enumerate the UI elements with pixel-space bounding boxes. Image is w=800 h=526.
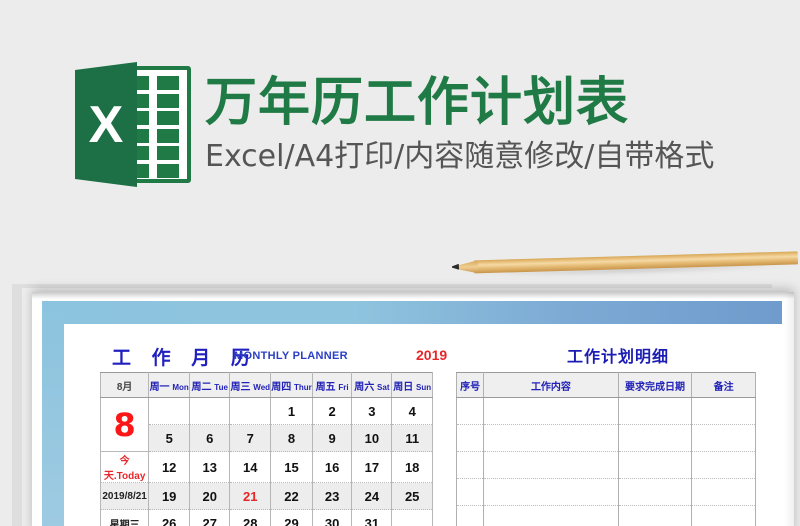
plan-cell-duedate[interactable] (618, 398, 692, 425)
calendar-day-cell[interactable]: 20 (190, 483, 230, 510)
calendar-month-label: 8月 (101, 373, 149, 398)
excel-x-panel: X (75, 62, 137, 187)
promo-banner: X 万年历工作计划表 Excel/A4打印/内容随意修改/自带格式 (0, 0, 800, 232)
calendar-day-cell-today[interactable]: 21 (230, 483, 271, 510)
table-row (457, 506, 756, 526)
calendar-day-cell[interactable]: 16 (312, 452, 352, 483)
calendar-week-row: 8 1 2 3 4 (101, 398, 433, 425)
plan-cell-remark[interactable] (692, 506, 756, 526)
plan-cell-remark[interactable] (692, 425, 756, 452)
calendar-day-cell[interactable]: 9 (312, 425, 352, 452)
calendar-day-cell[interactable]: 6 (190, 425, 230, 452)
plan-header-row: 序号 工作内容 要求完成日期 备注 (457, 373, 756, 398)
plan-cell-index[interactable] (457, 425, 484, 452)
plan-cell-remark[interactable] (692, 398, 756, 425)
calendar-day-cell[interactable]: 17 (352, 452, 392, 483)
page-subtitle: Excel/A4打印/内容随意修改/自带格式 (205, 131, 714, 175)
sheet-content: 工 作 月 历 MONTHLY PLANNER 2019 工作计划明细 8月 周… (64, 324, 794, 526)
calendar-day-cell[interactable]: 2 (312, 398, 352, 425)
calendar-day-cell[interactable]: 25 (392, 483, 433, 510)
calendar-day-cell[interactable]: 7 (230, 425, 271, 452)
calendar-day-cell[interactable]: 10 (352, 425, 392, 452)
calendar-day-cell[interactable]: 19 (149, 483, 190, 510)
page-title: 万年历工作计划表 (205, 60, 629, 135)
page-right-shading (784, 292, 794, 526)
work-plan-table[interactable]: 序号 工作内容 要求完成日期 备注 (456, 372, 756, 526)
calendar-day-cell[interactable]: 11 (392, 425, 433, 452)
plan-cell-duedate[interactable] (618, 425, 692, 452)
table-row (457, 452, 756, 479)
calendar-day-cell[interactable]: 26 (149, 510, 190, 526)
calendar-day-cell[interactable]: 14 (230, 452, 271, 483)
plan-title: 工作计划明细 (567, 343, 669, 367)
plan-cell-content[interactable] (484, 479, 618, 506)
calendar-week-row: 5 6 7 8 9 10 11 (101, 425, 433, 452)
plan-cell-remark[interactable] (692, 479, 756, 506)
calendar-header-row: 8月 周一 Mon 周二 Tue 周三 Wed 周四 Thur 周五 Fri 周… (101, 373, 433, 398)
calendar-month-number: 8 (101, 398, 149, 452)
calendar-day-cell[interactable]: 15 (271, 452, 313, 483)
spreadsheet-page: 工 作 月 历 MONTHLY PLANNER 2019 工作计划明细 8月 周… (32, 292, 794, 526)
plan-cell-remark[interactable] (692, 452, 756, 479)
calendar-weekday-mon: 周一 Mon (149, 373, 190, 398)
calendar-day-cell[interactable]: 12 (149, 452, 190, 483)
table-row (457, 479, 756, 506)
plan-cell-content[interactable] (484, 452, 618, 479)
calendar-weekday-wed: 周三 Wed (230, 373, 271, 398)
pencil-graphite-tip (452, 264, 459, 270)
calendar-year: 2019 (416, 347, 447, 363)
plan-cell-duedate[interactable] (618, 479, 692, 506)
calendar-day-cell[interactable]: 18 (392, 452, 433, 483)
calendar-day-cell[interactable]: 29 (271, 510, 313, 526)
today-weekday: 星期三 (101, 510, 149, 526)
calendar-day-cell[interactable]: 1 (271, 398, 313, 425)
calendar-day-cell[interactable]: 31 (352, 510, 392, 526)
calendar-weekday-sat: 周六 Sat (352, 373, 392, 398)
letter-x-glyph: X (75, 62, 137, 187)
table-row (457, 425, 756, 452)
screenshot-root: X 万年历工作计划表 Excel/A4打印/内容随意修改/自带格式 工 作 月 … (0, 0, 800, 526)
calendar-day-cell[interactable]: 3 (352, 398, 392, 425)
calendar-title-en: MONTHLY PLANNER (234, 350, 348, 362)
plan-column-header-content: 工作内容 (484, 373, 618, 398)
calendar-day-cell[interactable]: 22 (271, 483, 313, 510)
calendar-day-cell[interactable]: 13 (190, 452, 230, 483)
calendar-day-cell[interactable] (230, 398, 271, 425)
calendar-table[interactable]: 8月 周一 Mon 周二 Tue 周三 Wed 周四 Thur 周五 Fri 周… (100, 372, 433, 526)
table-row (457, 398, 756, 425)
plan-cell-index[interactable] (457, 506, 484, 526)
plan-cell-duedate[interactable] (618, 452, 692, 479)
plan-cell-content[interactable] (484, 425, 618, 452)
calendar-week-row: 今天.Today 12 13 14 15 16 17 18 (101, 452, 433, 483)
plan-column-header-index: 序号 (457, 373, 484, 398)
plan-column-header-remark: 备注 (692, 373, 756, 398)
calendar-day-cell[interactable] (190, 398, 230, 425)
calendar-day-cell[interactable]: 8 (271, 425, 313, 452)
calendar-weekday-thu: 周四 Thur (271, 373, 313, 398)
page-top-shading (32, 292, 794, 299)
calendar-weekday-fri: 周五 Fri (312, 373, 352, 398)
calendar-weekday-tue: 周二 Tue (190, 373, 230, 398)
calendar-day-cell[interactable]: 27 (190, 510, 230, 526)
calendar-week-row: 2019/8/21 19 20 21 22 23 24 25 (101, 483, 433, 510)
plan-column-header-duedate: 要求完成日期 (618, 373, 692, 398)
pencil-icon (452, 249, 798, 277)
plan-cell-content[interactable] (484, 506, 618, 526)
calendar-day-cell[interactable]: 4 (392, 398, 433, 425)
plan-cell-index[interactable] (457, 452, 484, 479)
plan-cell-index[interactable] (457, 479, 484, 506)
calendar-week-row: 星期三 26 27 28 29 30 31 (101, 510, 433, 526)
calendar-day-cell[interactable] (149, 398, 190, 425)
today-label: 今天.Today (101, 452, 149, 483)
page-frame-top-band (42, 301, 782, 324)
grid-column-right (157, 76, 179, 181)
plan-cell-duedate[interactable] (618, 506, 692, 526)
calendar-day-cell[interactable]: 24 (352, 483, 392, 510)
calendar-day-cell[interactable] (392, 510, 433, 526)
today-date: 2019/8/21 (101, 483, 149, 510)
plan-cell-content[interactable] (484, 398, 618, 425)
plan-cell-index[interactable] (457, 398, 484, 425)
calendar-day-cell[interactable]: 5 (149, 425, 190, 452)
calendar-day-cell[interactable]: 30 (312, 510, 352, 526)
excel-logo: X (75, 62, 195, 187)
calendar-day-cell[interactable]: 23 (312, 483, 352, 510)
calendar-day-cell[interactable]: 28 (230, 510, 271, 526)
page-frame-left-band (42, 301, 64, 526)
calendar-weekday-sun: 周日 Sun (392, 373, 433, 398)
